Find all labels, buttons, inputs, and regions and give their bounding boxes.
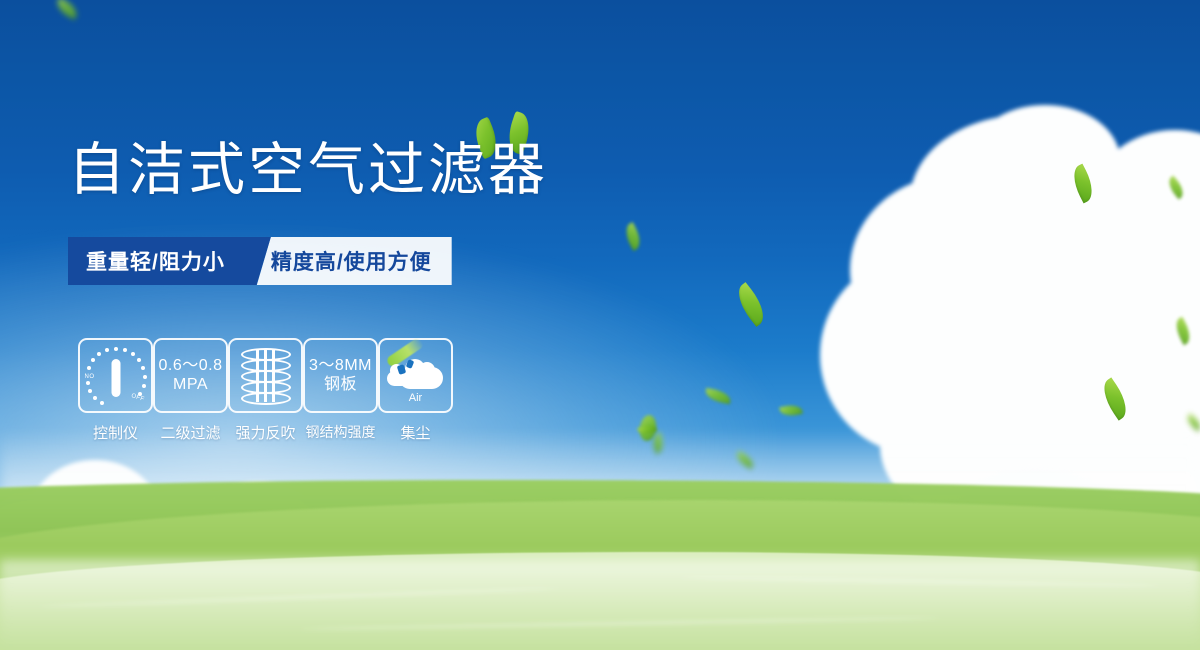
feature-item-steel[interactable]: 3～8MM 钢板 钢结构强度: [303, 338, 378, 443]
subtitle-left-segment: 重量轻/阻力小: [68, 237, 247, 285]
subtitle-bar: 重量轻/阻力小 精度高/使用方便: [68, 237, 452, 285]
gauge-icon: NO OFF: [85, 347, 147, 405]
grass-highlight: [0, 560, 1200, 650]
feature-list: NO OFF 控制仪 0.6～0.8 MPA 二级过滤: [78, 338, 453, 443]
feature-icon-box: [228, 338, 303, 413]
hero-banner: 自洁式空气过滤器 重量轻/阻力小 精度高/使用方便: [0, 0, 1200, 650]
feature-label: 二级过滤: [160, 422, 220, 443]
subtitle-right-segment: 精度高/使用方便: [257, 237, 452, 285]
feature-icon-box: 3～8MM 钢板: [303, 338, 378, 413]
feature-item-pressure[interactable]: 0.6～0.8 MPA 二级过滤: [153, 338, 228, 443]
feature-icon-subtext: 钢板: [324, 376, 357, 395]
feature-icon-box: NO OFF: [78, 338, 153, 413]
feature-icon-text: 0.6～0.8: [159, 357, 223, 376]
feature-icon-box: 0.6～0.8 MPA: [153, 338, 228, 413]
feature-label: 控制仪: [93, 422, 138, 443]
feature-label: 强力反吹: [235, 422, 295, 443]
gauge-needle: [111, 359, 120, 397]
gauge-label-no: NO: [85, 374, 95, 380]
feature-item-backblow[interactable]: 强力反吹: [228, 338, 303, 443]
coil-filter-icon: [242, 348, 290, 404]
feature-icon-box: Air: [378, 338, 453, 413]
feature-label: 集尘: [400, 422, 430, 443]
feature-item-dustcollect[interactable]: Air 集尘: [378, 338, 453, 443]
feature-item-controller[interactable]: NO OFF 控制仪: [78, 338, 153, 443]
gauge-label-off: OFF: [130, 393, 145, 403]
feature-icon-subtext: MPA: [173, 376, 208, 395]
cloud-air-icon: Air: [387, 351, 445, 401]
feature-label: 钢结构强度: [306, 422, 376, 442]
page-title: 自洁式空气过滤器: [68, 142, 548, 199]
feature-icon-text: 3～8MM: [309, 357, 372, 376]
air-label: Air: [387, 392, 445, 404]
